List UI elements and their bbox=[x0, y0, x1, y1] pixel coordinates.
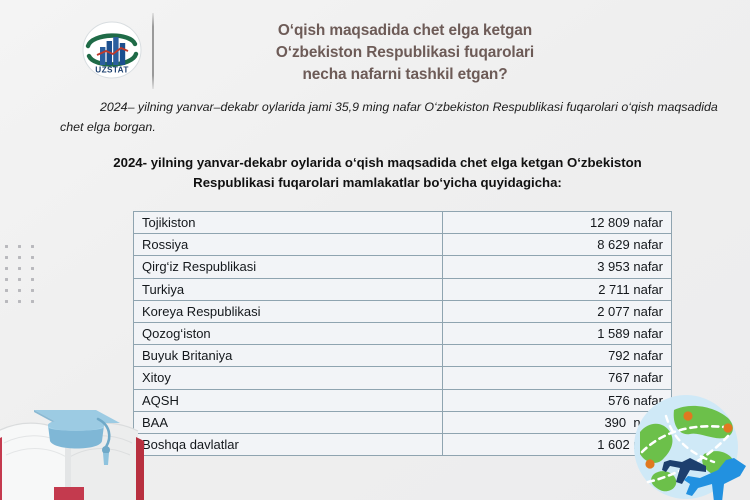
dot bbox=[5, 278, 8, 281]
cell-count: 8 629 nafar bbox=[443, 234, 672, 256]
country-data-table: Tojikiston 12 809 nafar Rossiya 8 629 na… bbox=[133, 211, 672, 456]
cell-country: Buyuk Britaniya bbox=[134, 345, 443, 367]
cell-country: Xitoy bbox=[134, 367, 443, 389]
page-title-line-3: necha nafarni tashkil etgan? bbox=[205, 64, 605, 86]
dot bbox=[18, 278, 21, 281]
table-row: Qozog‘iston 1 589 nafar bbox=[134, 322, 672, 344]
svg-text:UZSTAT: UZSTAT bbox=[95, 66, 128, 75]
graduation-cap-icon bbox=[0, 375, 144, 500]
cell-count: 12 809 nafar bbox=[443, 212, 672, 234]
dot bbox=[18, 289, 21, 292]
cell-count: 767 nafar bbox=[443, 367, 672, 389]
table-row: Rossiya 8 629 nafar bbox=[134, 234, 672, 256]
cell-count: 792 nafar bbox=[443, 345, 672, 367]
dot bbox=[18, 245, 21, 248]
cell-country: Koreya Respublikasi bbox=[134, 300, 443, 322]
cell-country: AQSH bbox=[134, 389, 443, 411]
table-row: BAA 390 nafar bbox=[134, 411, 672, 433]
dot bbox=[18, 300, 21, 303]
cell-country: BAA bbox=[134, 411, 443, 433]
table-row: Buyuk Britaniya 792 nafar bbox=[134, 345, 672, 367]
infographic-poster: UZSTAT O‘qish maqsadida chet elga ketgan… bbox=[0, 0, 750, 500]
cell-country: Turkiya bbox=[134, 278, 443, 300]
cell-count: 2 711 nafar bbox=[443, 278, 672, 300]
cell-count: 3 953 nafar bbox=[443, 256, 672, 278]
dot bbox=[31, 300, 34, 303]
dot bbox=[31, 256, 34, 259]
page-title-line-2: O‘zbekiston Respublikasi fuqarolari bbox=[205, 42, 605, 64]
cell-country: Tojikiston bbox=[134, 212, 443, 234]
cell-country: Boshqa davlatlar bbox=[134, 433, 443, 455]
page-title: O‘qish maqsadida chet elga ketgan O‘zbek… bbox=[205, 20, 605, 86]
cell-country: Rossiya bbox=[134, 234, 443, 256]
cell-count: 1 589 nafar bbox=[443, 322, 672, 344]
dot bbox=[5, 267, 8, 270]
header: UZSTAT O‘qish maqsadida chet elga ketgan… bbox=[0, 0, 750, 95]
dot bbox=[5, 300, 8, 303]
dot-grid-decoration bbox=[5, 245, 39, 303]
dot bbox=[31, 245, 34, 248]
dot bbox=[31, 289, 34, 292]
table-row: Tojikiston 12 809 nafar bbox=[134, 212, 672, 234]
dot bbox=[18, 267, 21, 270]
table-row: Qirg‘iz Respublikasi 3 953 nafar bbox=[134, 256, 672, 278]
dot bbox=[5, 289, 8, 292]
cell-country: Qozog‘iston bbox=[134, 322, 443, 344]
section-heading: 2024- yilning yanvar-dekabr oylarida o‘q… bbox=[75, 153, 680, 193]
table-row: Boshqa davlatlar 1 602 nafar bbox=[134, 433, 672, 455]
dot bbox=[31, 267, 34, 270]
table-body: Tojikiston 12 809 nafar Rossiya 8 629 na… bbox=[134, 212, 672, 456]
uzstat-logo: UZSTAT bbox=[80, 20, 144, 80]
dot bbox=[5, 245, 8, 248]
intro-paragraph: 2024– yilning yanvar–dekabr oylarida jam… bbox=[60, 97, 720, 137]
globe-icon bbox=[628, 392, 748, 500]
dot bbox=[5, 256, 8, 259]
table-row: AQSH 576 nafar bbox=[134, 389, 672, 411]
dot bbox=[31, 278, 34, 281]
cell-country: Qirg‘iz Respublikasi bbox=[134, 256, 443, 278]
table-row: Koreya Respublikasi 2 077 nafar bbox=[134, 300, 672, 322]
header-divider bbox=[152, 13, 154, 89]
table-row: Turkiya 2 711 nafar bbox=[134, 278, 672, 300]
table-row: Xitoy 767 nafar bbox=[134, 367, 672, 389]
cell-count: 2 077 nafar bbox=[443, 300, 672, 322]
dot bbox=[18, 256, 21, 259]
page-title-line-1: O‘qish maqsadida chet elga ketgan bbox=[205, 20, 605, 42]
